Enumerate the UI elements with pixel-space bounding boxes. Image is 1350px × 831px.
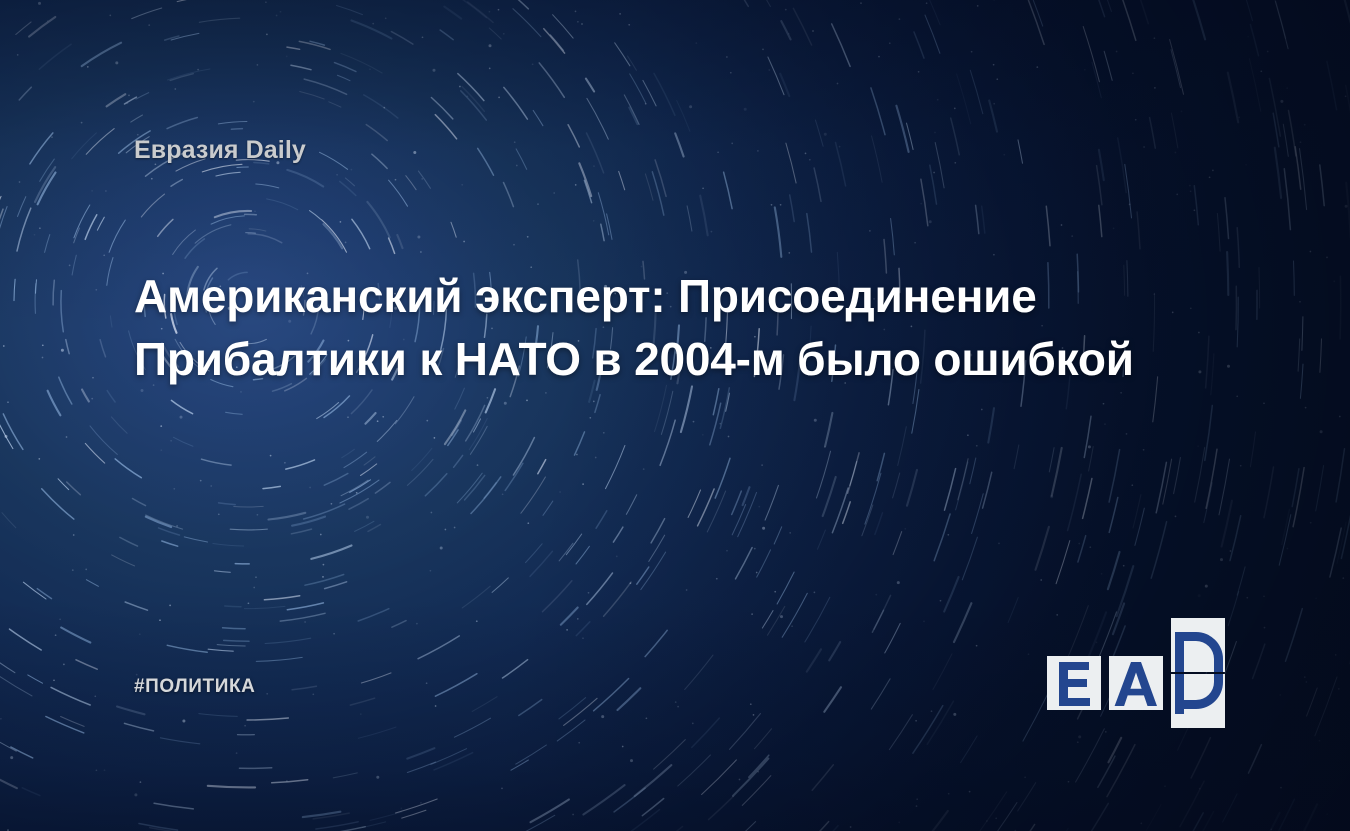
ead-tile-d-bottom [1171, 674, 1225, 728]
ead-logo[interactable] [1047, 618, 1229, 728]
site-logo[interactable]: Евразия Daily [134, 136, 306, 165]
news-card: Евразия Daily Американский эксперт: Прис… [0, 0, 1350, 831]
ead-tile-a [1109, 656, 1163, 710]
headline: Американский эксперт: Присоединение Приб… [134, 265, 1239, 391]
category-tag[interactable]: #ПОЛИТИКА [134, 676, 256, 698]
ead-tile-e [1047, 656, 1101, 710]
ead-tile-d-top [1171, 618, 1225, 672]
